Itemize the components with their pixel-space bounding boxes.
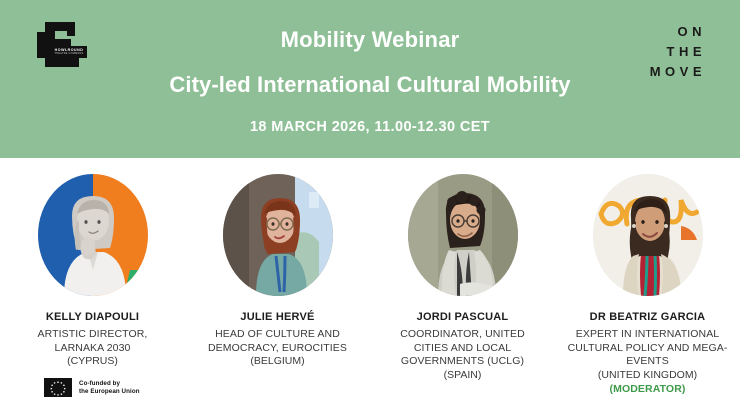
eu-funding-logo: Co-funded by the European Union xyxy=(44,378,140,397)
eu-flag-icon xyxy=(44,378,72,397)
avatar xyxy=(38,174,148,296)
portrait-jordi-pascual xyxy=(408,174,518,296)
speaker-role: HEAD OF CULTURE AND DEMOCRACY, EUROCITIE… xyxy=(198,328,358,356)
speaker-name: JULIE HERVÉ xyxy=(240,311,314,325)
otm-line-1: ON xyxy=(673,22,706,42)
header-text-block: Mobility Webinar City-led International … xyxy=(0,0,740,158)
avatar xyxy=(593,174,703,296)
webinar-subtitle: City-led International Cultural Mobility xyxy=(169,73,570,97)
header-banner: HOWLROUND THEATRE COMMONS Mobility Webin… xyxy=(0,0,740,158)
otm-line-3: MOVE xyxy=(645,62,706,82)
avatar xyxy=(408,174,518,296)
speaker-name: JORDI PASCUAL xyxy=(417,311,509,325)
webinar-title: Mobility Webinar xyxy=(281,28,460,52)
portrait-julie-herve xyxy=(223,174,333,296)
on-the-move-logo: ON THE MOVE xyxy=(645,22,706,82)
speaker-card: JORDI PASCUAL COORDINATOR, UNITED CITIES… xyxy=(370,158,555,417)
eu-funding-text: Co-funded by the European Union xyxy=(79,380,140,396)
speaker-name: KELLY DIAPOULI xyxy=(46,311,139,325)
eu-text-line-2: the European Union xyxy=(79,388,140,396)
webinar-poster: HOWLROUND THEATRE COMMONS Mobility Webin… xyxy=(0,0,740,417)
avatar xyxy=(223,174,333,296)
speaker-role: ARTISTIC DIRECTOR, LARNAKA 2030 xyxy=(13,328,173,356)
speaker-country: (SPAIN) xyxy=(444,369,482,383)
portrait-beatriz-garcia xyxy=(593,174,703,296)
otm-line-2: THE xyxy=(662,42,706,62)
speaker-moderator-tag: (MODERATOR) xyxy=(610,383,686,397)
portrait-kelly-diapouli xyxy=(38,174,148,296)
speaker-country: (BELGIUM) xyxy=(250,355,304,369)
speaker-name: DR BEATRIZ GARCIA xyxy=(590,311,706,325)
speaker-country: (UNITED KINGDOM) xyxy=(598,369,697,383)
speaker-card: JULIE HERVÉ HEAD OF CULTURE AND DEMOCRAC… xyxy=(185,158,370,417)
speaker-role: COORDINATOR, UNITED CITIES AND LOCAL GOV… xyxy=(383,328,543,370)
speaker-country: (CYPRUS) xyxy=(67,355,118,369)
webinar-datetime: 18 MARCH 2026, 11.00-12.30 CET xyxy=(250,119,490,135)
speaker-role: EXPERT IN INTERNATIONAL CULTURAL POLICY … xyxy=(568,328,728,370)
eu-text-line-1: Co-funded by xyxy=(79,380,140,388)
speaker-card: DR BEATRIZ GARCIA EXPERT IN INTERNATIONA… xyxy=(555,158,740,417)
